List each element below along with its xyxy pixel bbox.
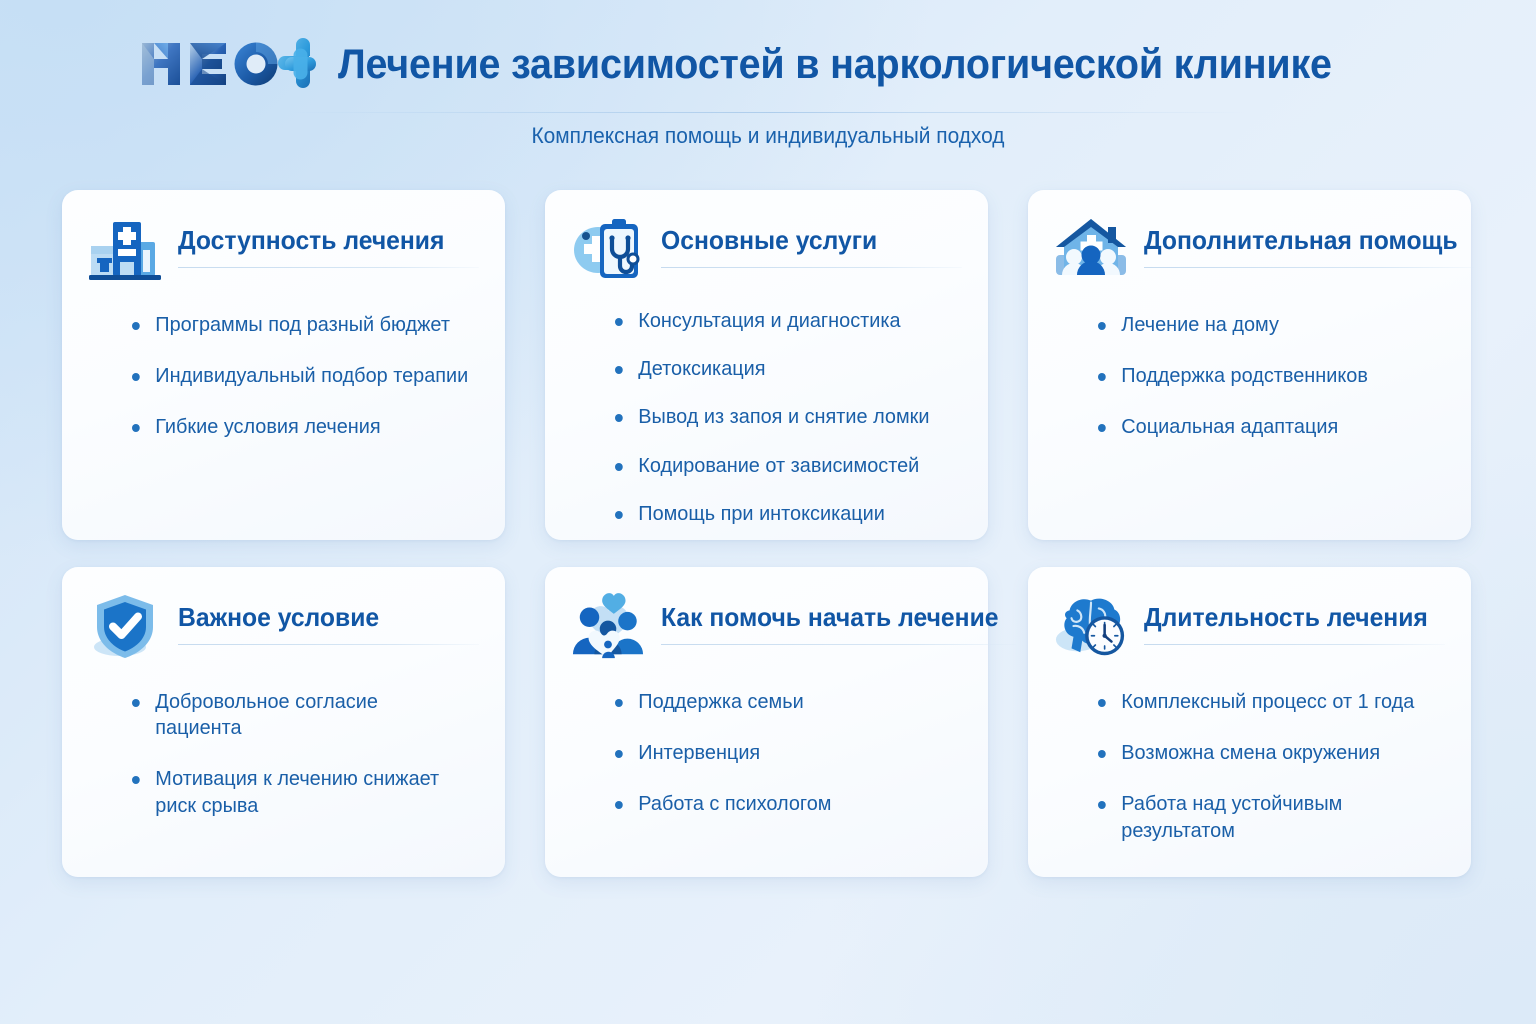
list-item-text: Программы под разный бюджет	[155, 313, 450, 336]
bullet-dot	[615, 366, 623, 374]
list-item: Социальная адаптация	[1098, 414, 1435, 440]
bullet-dot	[615, 699, 623, 707]
bullet-dot	[615, 318, 623, 326]
bullet-dot	[1098, 424, 1106, 432]
list-item: Поддержка семьи	[615, 689, 952, 715]
card-how-to-start[interactable]: Как помочь начать лечение Поддержка семь…	[545, 567, 988, 877]
list-item: Вывод из запоя и снятие ломки	[615, 404, 952, 430]
card-title: Дополнительная помощь	[1144, 226, 1458, 255]
header-divider	[290, 112, 1250, 113]
card-divider	[178, 644, 479, 645]
card-title-wrap: Как помочь начать лечение	[661, 589, 1016, 645]
list-item-text: Работа с психологом	[638, 792, 831, 815]
bullet-dot	[615, 801, 623, 809]
list-item-text: Добровольное согласие пациента	[155, 690, 378, 739]
neo-logo-mark	[140, 37, 316, 91]
list-item: Мотивация к лечению снижает риск срыва	[132, 766, 469, 818]
list-item-text: Комплексный процесс от 1 года	[1121, 690, 1414, 713]
family-heart-icon	[571, 589, 645, 663]
list-item: Программы под разный бюджет	[132, 312, 469, 338]
list-item-text: Возможна смена окружения	[1121, 741, 1380, 764]
bullet-dot	[1098, 322, 1106, 330]
list-item-text: Поддержка родственников	[1121, 364, 1368, 387]
card-bullet-list: Добровольное согласие пациента Мотивация…	[88, 689, 479, 819]
list-item: Интервенция	[615, 740, 952, 766]
card-treatment-availability[interactable]: Доступность лечения Программы под разный…	[62, 190, 505, 540]
list-item-text: Вывод из запоя и снятие ломки	[638, 405, 929, 428]
card-divider	[1144, 267, 1474, 268]
card-title: Как помочь начать лечение	[661, 603, 999, 632]
card-header: Как помочь начать лечение	[571, 589, 962, 667]
page-title: Лечение зависимостей в наркологической к…	[338, 40, 1332, 88]
brain-clock-icon	[1054, 589, 1128, 663]
card-bullet-list: Программы под разный бюджет Индивидуальн…	[88, 312, 479, 441]
bullet-dot	[615, 414, 623, 422]
card-header: Дополнительная помощь	[1054, 212, 1445, 290]
list-item-text: Консультация и диагностика	[638, 309, 900, 332]
list-item-text: Работа над устойчивым результатом	[1121, 792, 1342, 841]
bullet-dot	[1098, 750, 1106, 758]
bullet-dot	[615, 511, 623, 519]
bullet-dot	[615, 750, 623, 758]
card-divider	[178, 267, 479, 268]
card-title: Длительность лечения	[1144, 603, 1430, 632]
card-bullet-list: Лечение на дому Поддержка родственников …	[1054, 312, 1445, 441]
card-header: Длительность лечения	[1054, 589, 1445, 667]
header: Лечение зависимостей в наркологической к…	[0, 28, 1536, 100]
card-bullet-list: Поддержка семьи Интервенция Работа с пси…	[571, 689, 962, 818]
list-item: Гибкие условия лечения	[132, 414, 469, 440]
neo-logo	[140, 37, 316, 91]
list-item: Помощь при интоксикации	[615, 501, 952, 527]
card-title-wrap: Основные услуги	[661, 212, 962, 268]
card-title: Доступность лечения	[178, 226, 464, 255]
list-item-text: Гибкие условия лечения	[155, 415, 380, 438]
list-item-text: Мотивация к лечению снижает риск срыва	[155, 767, 439, 816]
infographic-page: Лечение зависимостей в наркологической к…	[0, 0, 1536, 1024]
list-item: Кодирование от зависимостей	[615, 453, 952, 479]
bullet-dot	[132, 373, 140, 381]
card-title-wrap: Доступность лечения	[178, 212, 479, 268]
card-bullet-list: Консультация и диагностика Детоксикация …	[571, 308, 962, 527]
list-item: Добровольное согласие пациента	[132, 689, 469, 741]
card-treatment-duration[interactable]: Длительность лечения Комплексный процесс…	[1028, 567, 1471, 877]
list-item: Лечение на дому	[1098, 312, 1435, 338]
clipboard-stethoscope-icon	[571, 212, 645, 286]
list-item: Работа с психологом	[615, 791, 952, 817]
bullet-dot	[132, 424, 140, 432]
card-title-wrap: Важное условие	[178, 589, 479, 645]
bullet-dot	[132, 699, 140, 707]
list-item: Индивидуальный подбор терапии	[132, 363, 469, 389]
list-item-text: Интервенция	[638, 741, 760, 764]
hospital-building-icon	[88, 212, 162, 286]
card-divider	[661, 267, 962, 268]
house-family-icon	[1054, 212, 1128, 286]
list-item-text: Помощь при интоксикации	[638, 502, 885, 525]
card-additional-help[interactable]: Дополнительная помощь Лечение на дому По…	[1028, 190, 1471, 540]
card-title: Важное условие	[178, 603, 464, 632]
bullet-dot	[1098, 373, 1106, 381]
page-subtitle: Комплексная помощь и индивидуальный подх…	[38, 123, 1497, 149]
list-item-text: Социальная адаптация	[1121, 415, 1338, 438]
card-divider	[1144, 644, 1445, 645]
list-item: Консультация и диагностика	[615, 308, 952, 334]
card-important-condition[interactable]: Важное условие Добровольное согласие пац…	[62, 567, 505, 877]
card-divider	[661, 644, 1016, 645]
list-item-text: Детоксикация	[638, 357, 765, 380]
bullet-dot	[1098, 801, 1106, 809]
list-item-text: Поддержка семьи	[638, 690, 803, 713]
bullet-dot	[615, 463, 623, 471]
card-header: Доступность лечения	[88, 212, 479, 290]
card-header: Важное условие	[88, 589, 479, 667]
card-header: Основные услуги	[571, 212, 962, 290]
list-item-text: Лечение на дому	[1121, 313, 1279, 336]
list-item: Поддержка родственников	[1098, 363, 1435, 389]
bullet-dot	[132, 322, 140, 330]
list-item-text: Индивидуальный подбор терапии	[155, 364, 468, 387]
list-item: Работа над устойчивым результатом	[1098, 791, 1435, 843]
list-item: Возможна смена окружения	[1098, 740, 1435, 766]
card-title-wrap: Длительность лечения	[1144, 589, 1445, 645]
card-main-services[interactable]: Основные услуги Консультация и диагности…	[545, 190, 988, 540]
shield-check-icon	[88, 589, 162, 663]
list-item: Комплексный процесс от 1 года	[1098, 689, 1435, 715]
card-title-wrap: Дополнительная помощь	[1144, 212, 1474, 268]
list-item: Детоксикация	[615, 356, 952, 382]
bullet-dot	[1098, 699, 1106, 707]
bullet-dot	[132, 776, 140, 784]
list-item-text: Кодирование от зависимостей	[638, 454, 919, 477]
card-title: Основные услуги	[661, 226, 947, 255]
card-grid: Доступность лечения Программы под разный…	[62, 190, 1474, 877]
card-bullet-list: Комплексный процесс от 1 года Возможна с…	[1054, 689, 1445, 844]
